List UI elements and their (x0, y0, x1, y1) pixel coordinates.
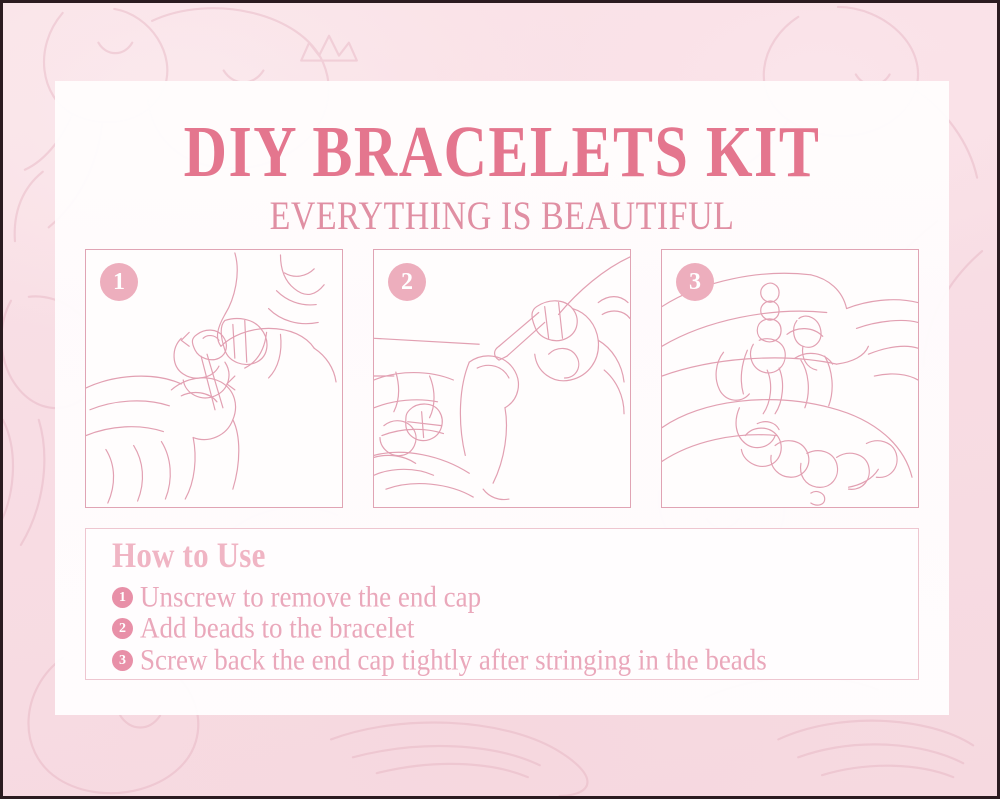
page-subtitle: EVERYTHING IS BEAUTIFUL (55, 169, 949, 237)
step-text: Unscrew to remove the end cap (140, 580, 918, 614)
step-text: Add beads to the bracelet (140, 611, 918, 645)
step-number-badge: 2 (112, 618, 133, 639)
poster-card: DIY BRACELETS KIT EVERYTHING IS BEAUTIFU… (55, 81, 949, 715)
step-panel-1: 1 (85, 249, 343, 508)
how-to-use-heading: How to Use (112, 537, 918, 574)
step-number-badge: 1 (112, 587, 133, 608)
step-panel-3: 3 (661, 249, 919, 508)
list-item: 1 Unscrew to remove the end cap (112, 580, 918, 611)
panel-badge-1: 1 (100, 263, 138, 301)
panel-badge-3: 3 (676, 263, 714, 301)
panel-badge-2: 2 (388, 263, 426, 301)
step-panels: 1 (85, 249, 919, 508)
step-text: Screw back the end cap tightly after str… (140, 643, 918, 677)
how-to-use-steps: 1 Unscrew to remove the end cap 2 Add be… (112, 580, 918, 674)
diy-bracelets-kit-poster: DIY BRACELETS KIT EVERYTHING IS BEAUTIFU… (0, 0, 1000, 799)
list-item: 3 Screw back the end cap tightly after s… (112, 643, 918, 674)
list-item: 2 Add beads to the bracelet (112, 611, 918, 642)
step-number-badge: 3 (112, 650, 133, 671)
step-panel-2: 2 (373, 249, 631, 508)
how-to-use-box: How to Use 1 Unscrew to remove the end c… (85, 528, 919, 680)
